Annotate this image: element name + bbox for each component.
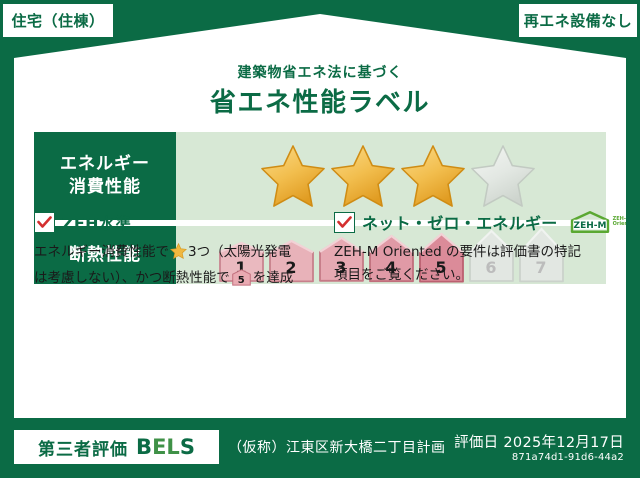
bels-letter-b: B [136,435,152,459]
bels-letter-l: L [166,435,179,459]
building-type-tag: 住宅（住棟） [3,4,113,37]
checkbox-checked-icon [334,212,355,233]
energy-performance-label-key: エネルギー 消費性能 [34,132,176,220]
inline-grade-number: 5 [232,272,251,289]
bels-logo: 第三者評価 BELS [14,430,219,464]
zeh-standard-body: エネルギー消費性能で3つ（太陽光発電 は考慮しない）、かつ断熱性能で5を達成 [34,241,310,294]
zeh-standard-title: ZEH水準 [62,210,131,234]
svg-text:ZEH-M: ZEH-M [573,221,606,231]
star-empty-icon [469,143,537,209]
star-filled-icon [399,143,467,209]
net-zero-body-line2: 項目をご覧ください。 [334,267,469,283]
notes-section: ZEH水準 エネルギー消費性能で3つ（太陽光発電 は考慮しない）、かつ断熱性能で… [34,210,606,294]
bels-letter-s: S [180,435,195,459]
evaluation-id: 871a74d1-91d6-44a2 [512,452,624,463]
energy-performance-value [176,132,606,220]
zeh-standard-note: ZEH水準 エネルギー消費性能で3つ（太陽光発電 は考慮しない）、かつ断熱性能で… [34,210,320,294]
label-panel: 建築物省エネ法に基づく 省エネ性能ラベル エネルギー 消費性能 断熱性 [14,14,626,418]
renewable-equipment-tag: 再エネ設備なし [519,4,637,37]
page-title: 省エネ性能ラベル [14,82,626,119]
energy-performance-label: 住宅（住棟） 再エネ設備なし 建築物省エネ法に基づく 省エネ性能ラベル エネルギ… [0,0,640,478]
evaluation-date: 評価日 2025年12月17日 [454,431,624,452]
zeh-body-stars: 3つ（太陽光発電 [188,244,291,260]
energy-key-line2: 消費性能 [69,176,141,199]
star-filled-icon [329,143,397,209]
net-zero-body-line1: ZEH-M Oriented の要件は評価書の特記 [334,244,581,260]
inline-grade-house-icon: 5 [232,269,251,294]
project-name: （仮称）江東区新大橋二丁目計画 [228,437,446,457]
net-zero-energy-title: ネット・ゼロ・エネルギー [362,210,558,234]
zeh-standard-header: ZEH水準 [34,210,310,234]
inline-star-icon [170,243,187,267]
star-rating [259,143,537,209]
zeh-body-part2: は考慮しない）、かつ断熱性能で [34,270,230,286]
zeh-m-logo-sub2: Oriented [613,222,638,227]
bels-jp-text: 第三者評価 [38,435,128,460]
star-filled-icon [259,143,327,209]
bels-letter-e: E [152,435,166,459]
net-zero-energy-body: ZEH-M Oriented の要件は評価書の特記 項目をご覧ください。 [334,241,596,287]
net-zero-energy-header: ネット・ゼロ・エネルギー ZEH-M ZEH-M Oriented [334,210,596,234]
zeh-m-logo: ZEH-M ZEH-M Oriented [569,210,638,234]
net-zero-energy-note: ネット・ゼロ・エネルギー ZEH-M ZEH-M Oriented [320,210,606,294]
checkbox-checked-icon [34,212,55,233]
energy-performance-row: エネルギー 消費性能 [34,132,606,220]
bels-en-text: BELS [136,435,195,459]
zeh-body-part1: エネルギー消費性能で [34,244,169,260]
energy-key-line1: エネルギー [60,153,150,176]
zeh-body-part3: を達成 [253,270,294,286]
label-subtitle: 建築物省エネ法に基づく [14,62,626,82]
label-footer: 第三者評価 BELS （仮称）江東区新大橋二丁目計画 評価日 2025年12月1… [0,422,640,478]
